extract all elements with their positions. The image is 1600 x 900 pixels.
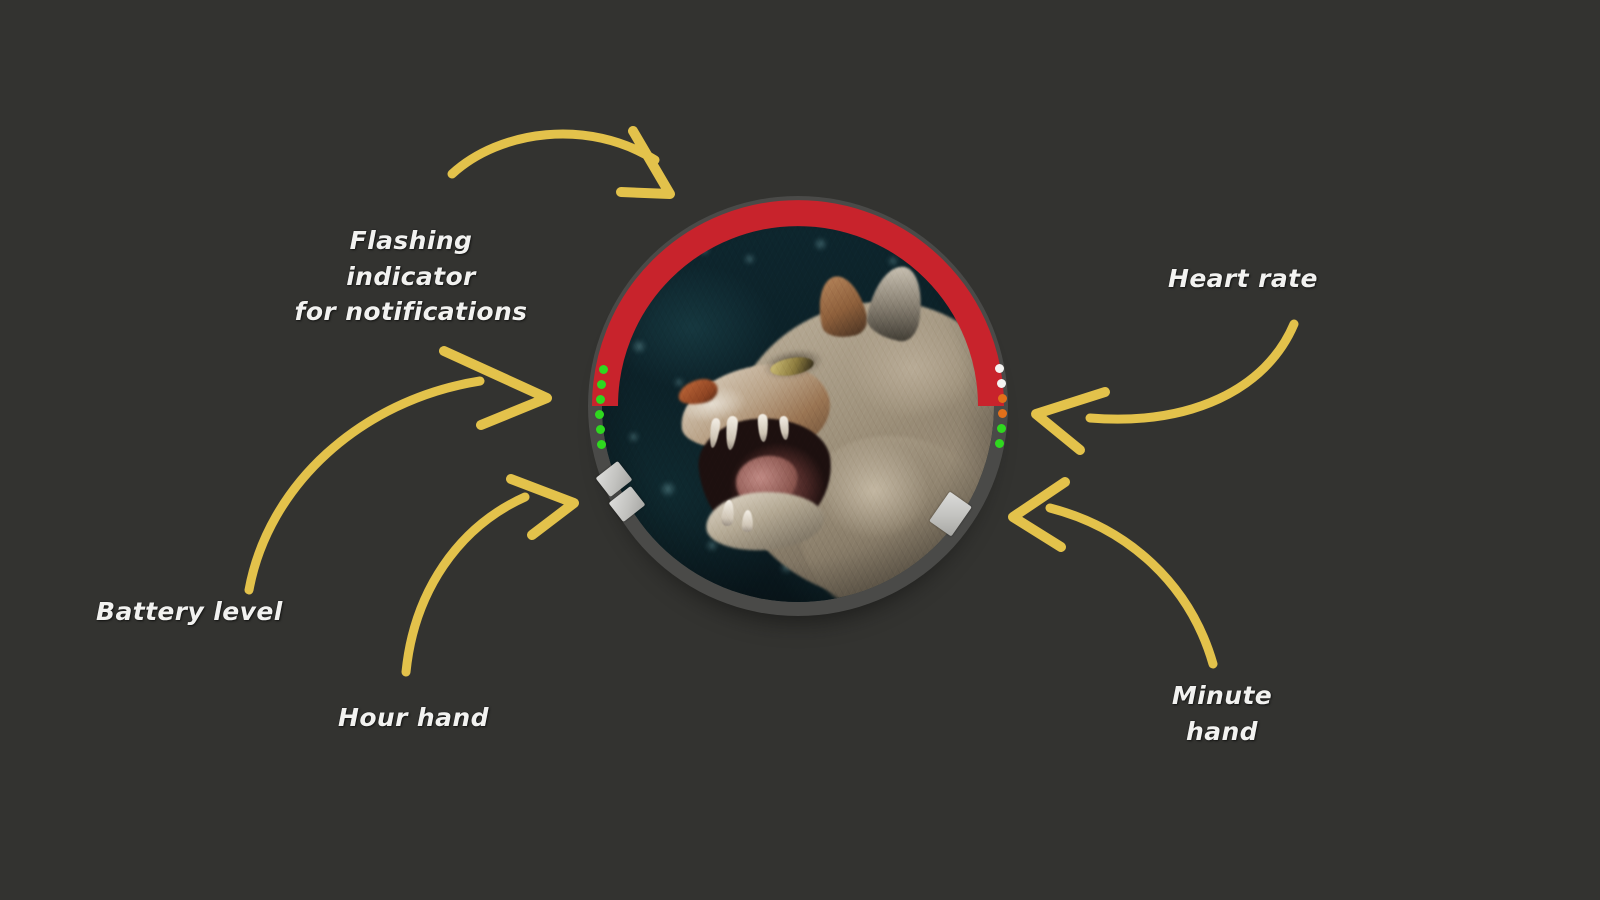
battery-segment [597, 440, 606, 449]
arrow-hour-hand [406, 479, 574, 672]
arrow-battery-level [249, 351, 547, 590]
heart-rate-segment [995, 439, 1004, 448]
diagram-canvas: Flashing indicator for notifications Hea… [0, 0, 1600, 900]
smartwatch-face[interactable] [588, 196, 1008, 616]
battery-segment [599, 365, 608, 374]
label-hour-hand: Hour hand [338, 700, 518, 736]
label-battery-level: Battery level [96, 594, 306, 630]
heart-rate-segment [997, 424, 1006, 433]
label-minute-hand: Minute hand [1152, 678, 1292, 749]
battery-segment [596, 425, 605, 434]
heart-rate-segment [995, 364, 1004, 373]
heart-rate-segment [997, 379, 1006, 388]
arrow-flashing-indicator [452, 131, 670, 194]
battery-segment [597, 380, 606, 389]
arrow-heart-rate [1036, 324, 1294, 450]
battery-indicator[interactable] [595, 365, 608, 449]
arrow-minute-hand [1013, 482, 1213, 664]
label-flashing-indicator: Flashing indicator for notifications [286, 223, 536, 330]
flashing-notification-arc [605, 213, 991, 406]
heart-rate-indicator[interactable] [993, 364, 1007, 448]
heart-rate-segment [998, 394, 1007, 403]
heart-rate-segment [998, 409, 1007, 418]
battery-segment [596, 395, 605, 404]
battery-segment [595, 410, 604, 419]
dial-rings [588, 196, 1008, 616]
label-heart-rate: Heart rate [1168, 261, 1338, 297]
